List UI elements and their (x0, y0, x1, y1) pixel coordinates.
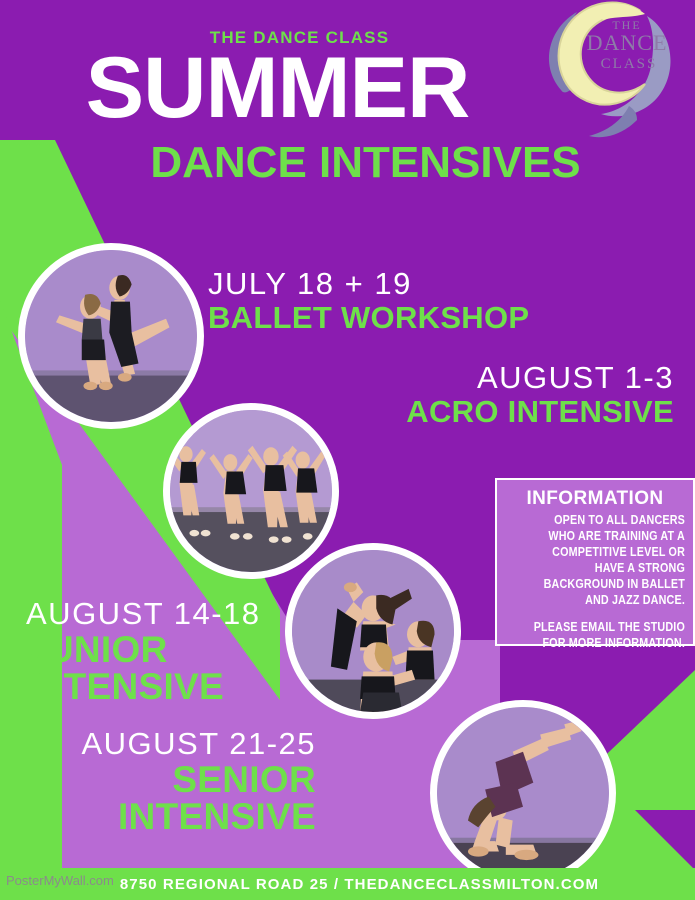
crescent-moon-icon: THE DANCE CLASS (519, 0, 689, 154)
photo-two-dancers-ballet (18, 243, 204, 429)
session-name-line2: INTENSIVE (26, 798, 316, 836)
session-name-line2: INTENSIVE (26, 668, 261, 706)
information-spacer (530, 608, 685, 619)
session-ballet-workshop: JULY 18 + 19 BALLET WORKSHOP (208, 268, 529, 334)
session-name: BALLET WORKSHOP (208, 301, 529, 334)
photo-illustration (437, 707, 609, 879)
brand-logo: THE DANCE CLASS (519, 0, 689, 154)
session-name: ACRO INTENSIVE (250, 395, 674, 428)
poster-canvas: THE DANCE CLASS SUMMER DANCE INTENSIVES … (0, 0, 695, 900)
session-date: JULY 18 + 19 (208, 268, 529, 301)
session-date: AUGUST 1-3 (250, 362, 674, 395)
information-box: INFORMATION OPEN TO ALL DANCERS WHO ARE … (495, 478, 695, 646)
session-name-line1: SENIOR (26, 761, 316, 799)
photo-illustration (292, 550, 454, 712)
logo-text-class: CLASS (601, 56, 658, 72)
session-date: AUGUST 14-18 (26, 598, 261, 631)
postermywall-watermark: PosterMyWall.com (6, 873, 114, 888)
logo-text-dance: DANCE (587, 30, 668, 55)
photo-dancer-handstand (430, 700, 616, 886)
information-paragraph-1: OPEN TO ALL DANCERS WHO ARE TRAINING AT … (530, 512, 685, 608)
photo-three-dancers-acro (285, 543, 461, 719)
information-heading: INFORMATION (505, 488, 685, 510)
session-acro-intensive: AUGUST 1-3 ACRO INTENSIVE (250, 362, 674, 428)
information-paragraph-2: PLEASE EMAIL THE STUDIO FOR MORE INFORMA… (530, 619, 685, 651)
session-date: AUGUST 21-25 (26, 728, 316, 761)
photo-illustration (25, 250, 197, 422)
photo-illustration (170, 410, 332, 572)
session-senior-intensive: AUGUST 21-25 SENIOR INTENSIVE (26, 728, 316, 836)
session-junior-intensive: AUGUST 14-18 JUNIOR INTENSIVE (26, 598, 261, 706)
footer-address-website: 8750 REGIONAL ROAD 25 / THEDANCECLASSMIL… (120, 876, 599, 893)
information-body: OPEN TO ALL DANCERS WHO ARE TRAINING AT … (530, 512, 685, 651)
session-name-line1: JUNIOR (26, 631, 261, 669)
